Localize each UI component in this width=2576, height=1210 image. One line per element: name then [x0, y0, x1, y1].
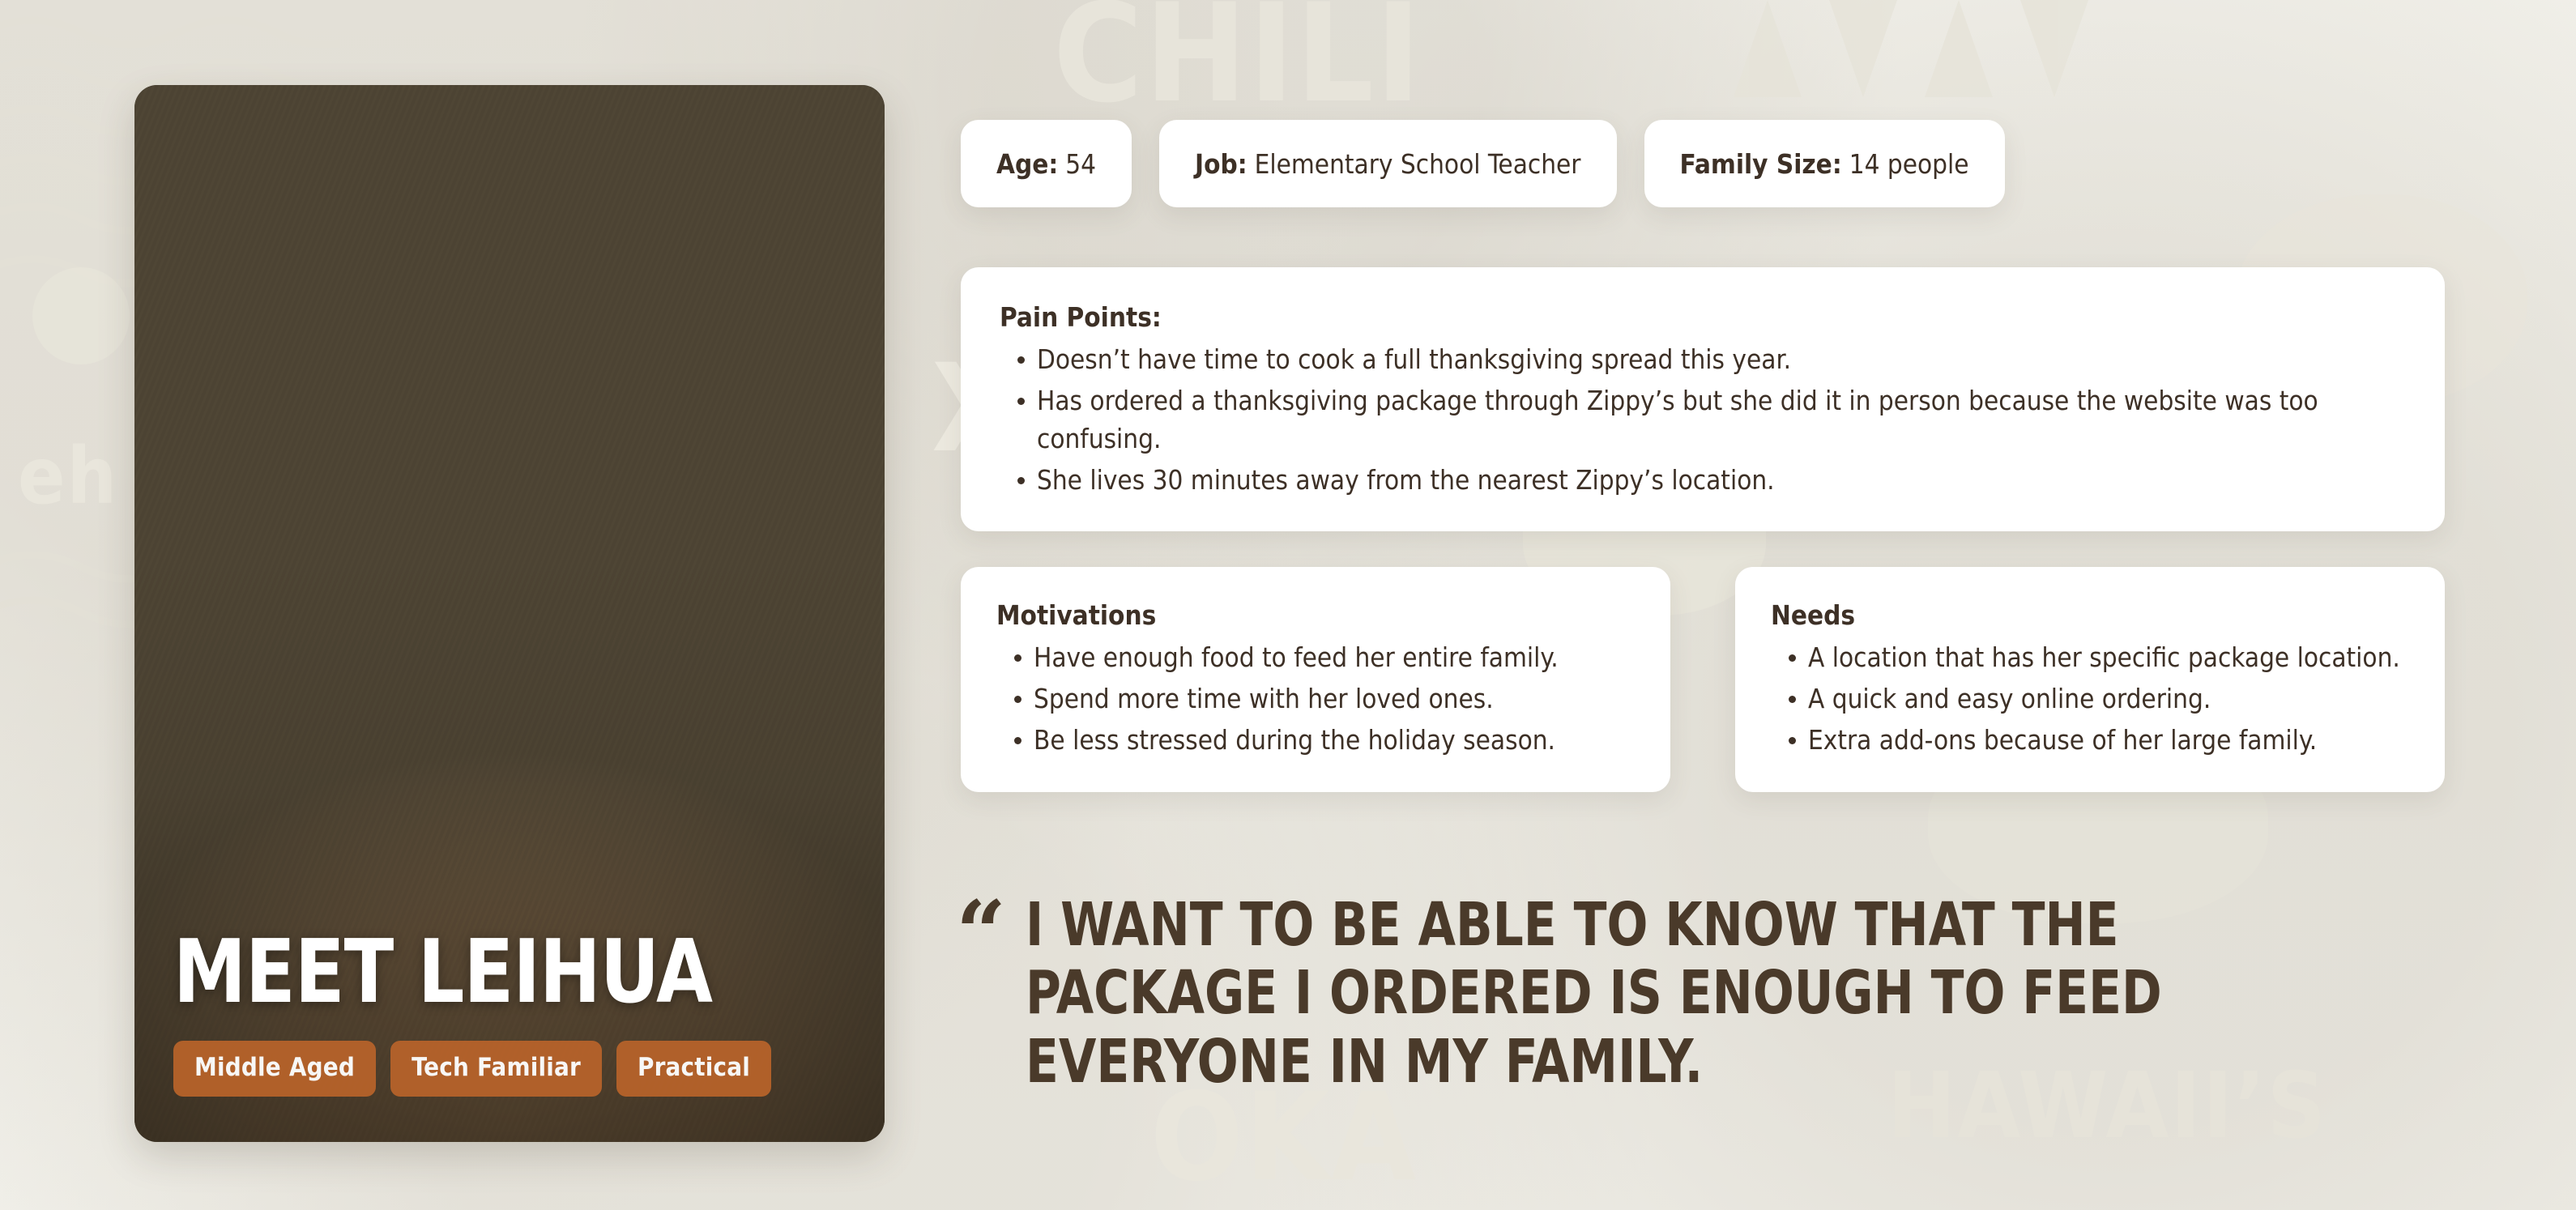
- profile-photo-card: MEET LEIHUA Middle Aged Tech Familiar Pr…: [134, 85, 885, 1142]
- list-item: Be less stressed during the holiday seas…: [996, 722, 1635, 760]
- list-item: A location that has her specific package…: [1771, 639, 2409, 677]
- list-item: Have enough food to feed her entire fami…: [996, 639, 1635, 677]
- fact-value-age: 54: [1065, 148, 1096, 180]
- list-item: A quick and easy online ordering.: [1771, 680, 2409, 718]
- needs-card: Needs A location that has her specific p…: [1735, 567, 2445, 792]
- list-item: She lives 30 minutes away from the neare…: [1000, 462, 2406, 500]
- fact-label-family-size: Family Size:: [1680, 148, 1842, 180]
- fact-label-job: Job:: [1195, 148, 1247, 180]
- fact-value-family-size: 14 people: [1849, 148, 1969, 180]
- fact-chip-family-size: Family Size: 14 people: [1644, 120, 2005, 207]
- needs-title: Needs: [1771, 599, 2409, 631]
- pain-points-title: Pain Points:: [1000, 301, 2406, 333]
- persona-details: Age: 54 Job: Elementary School Teacher F…: [961, 0, 2576, 1210]
- fact-value-job: Elementary School Teacher: [1255, 148, 1581, 180]
- fact-chip-row: Age: 54 Job: Elementary School Teacher F…: [961, 120, 2005, 207]
- motivations-list: Have enough food to feed her entire fami…: [996, 639, 1635, 760]
- pain-points-list: Doesn’t have time to cook a full thanksg…: [1000, 341, 2406, 499]
- persona-tag-tech-familiar[interactable]: Tech Familiar: [390, 1041, 602, 1097]
- quote-text: I want to be able to know that the packa…: [1026, 891, 2333, 1096]
- needs-list: A location that has her specific package…: [1771, 639, 2409, 760]
- motivations-title: Motivations: [996, 599, 1635, 631]
- page-title: MEET LEIHUA: [173, 929, 804, 1016]
- profile-overlay: MEET LEIHUA Middle Aged Tech Familiar Pr…: [173, 929, 852, 1097]
- list-item: Spend more time with her loved ones.: [996, 680, 1635, 718]
- list-item: Has ordered a thanksgiving package throu…: [1000, 382, 2406, 458]
- persona-tag-middle-aged[interactable]: Middle Aged: [173, 1041, 376, 1097]
- persona-tag-practical[interactable]: Practical: [616, 1041, 771, 1097]
- motivations-needs-row: Motivations Have enough food to feed her…: [961, 567, 2445, 792]
- quote-mark-icon: “: [956, 896, 1006, 971]
- fact-chip-age: Age: 54: [961, 120, 1132, 207]
- list-item: Extra add-ons because of her large famil…: [1771, 722, 2409, 760]
- fact-chip-job: Job: Elementary School Teacher: [1159, 120, 1616, 207]
- persona-tag-list: Middle Aged Tech Familiar Practical: [173, 1041, 852, 1097]
- persona-board: MEET LEIHUA Middle Aged Tech Familiar Pr…: [0, 0, 2576, 1210]
- persona-quote: “ I want to be able to know that the pac…: [956, 891, 2479, 1096]
- fact-label-age: Age:: [996, 148, 1058, 180]
- list-item: Doesn’t have time to cook a full thanksg…: [1000, 341, 2406, 379]
- motivations-card: Motivations Have enough food to feed her…: [961, 567, 1670, 792]
- pain-points-card: Pain Points: Doesn’t have time to cook a…: [961, 267, 2445, 531]
